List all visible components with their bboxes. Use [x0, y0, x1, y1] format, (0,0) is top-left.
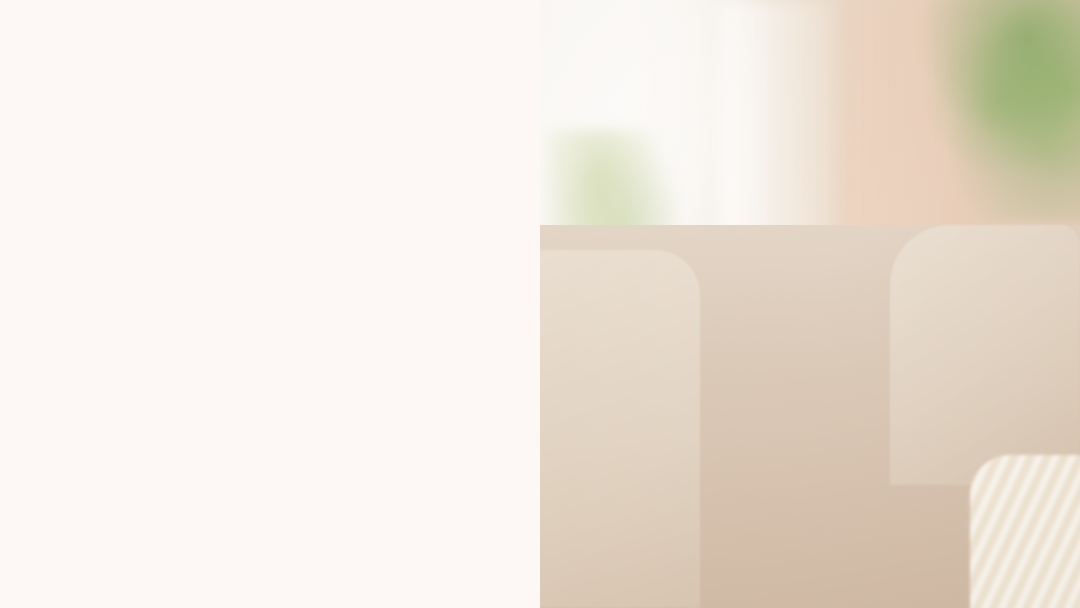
sofa-cushion-right [890, 225, 1080, 485]
sofa-cushion-left [540, 250, 700, 608]
plant-right-icon [880, 0, 1080, 220]
mother-holding-newborn-photo [540, 0, 1080, 608]
slide-root: اصلاح وضعیت بدن هنگام نشستن و ایستادن صا… [0, 0, 1080, 608]
knit-blanket [970, 455, 1080, 608]
